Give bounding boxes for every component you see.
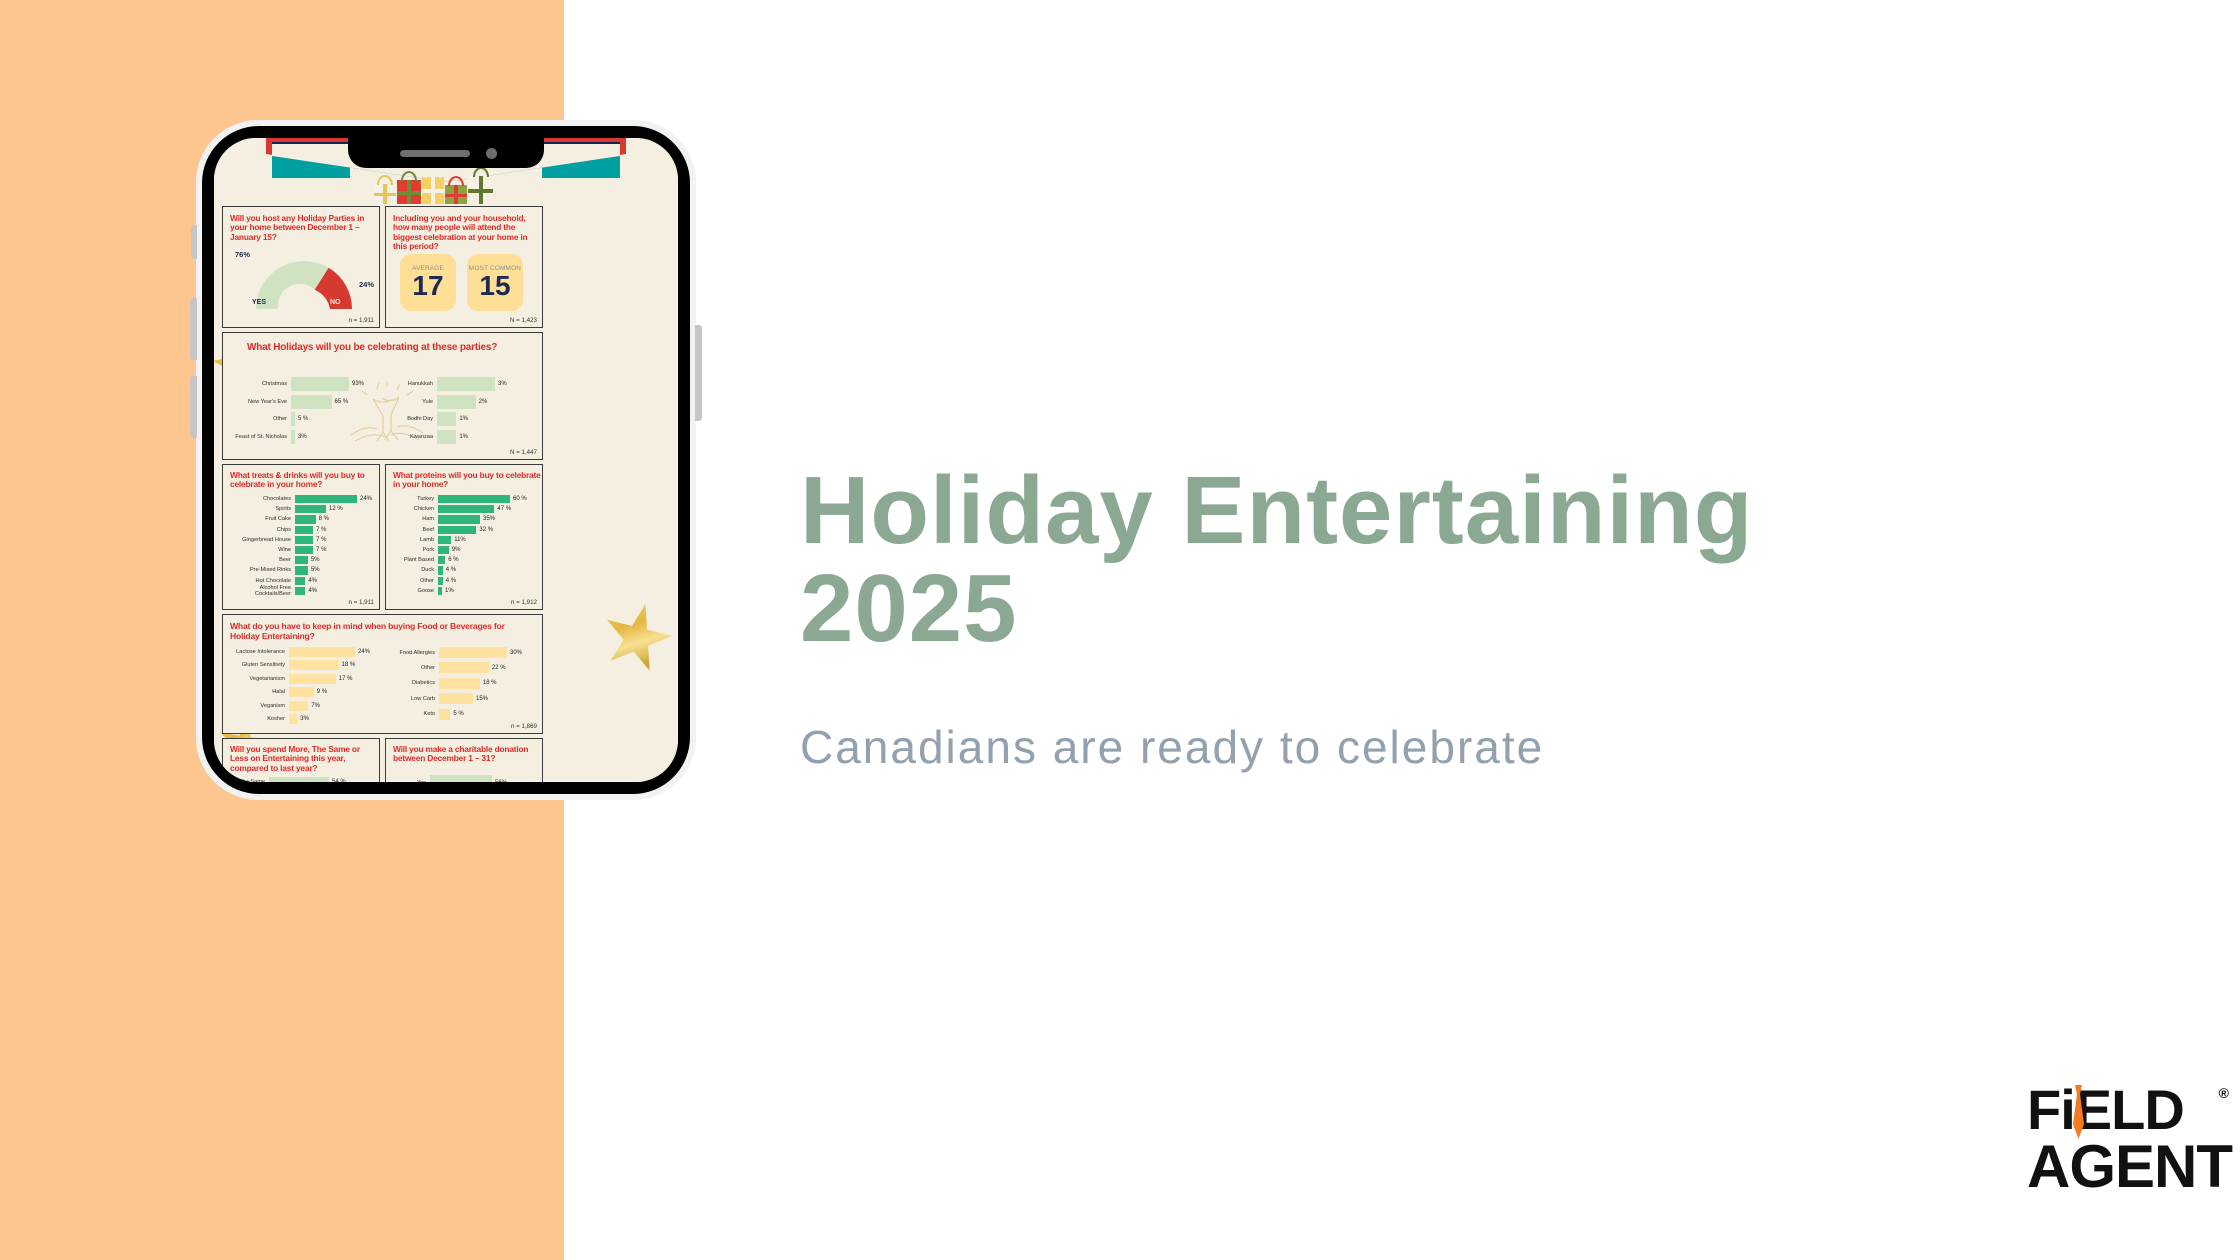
bar-chart-row: Yes56% bbox=[390, 775, 540, 782]
treats-bars: Chocolates24%Spirits12 %Fruit Cake8 %Chi… bbox=[227, 495, 377, 597]
bar-fill bbox=[437, 395, 476, 409]
bar-chart-row: Pork9% bbox=[390, 546, 540, 554]
gift-box-icon bbox=[445, 185, 467, 204]
bar-label: Chocolates bbox=[227, 496, 295, 502]
bar-label: Veganism bbox=[227, 703, 289, 709]
bar-chart-row: Keto5 % bbox=[383, 709, 537, 720]
bar-fill bbox=[438, 526, 476, 534]
bar-value: 11% bbox=[451, 537, 466, 543]
bar-fill bbox=[437, 412, 456, 426]
bar-label: Spirits bbox=[227, 506, 295, 512]
bar-chart-row: Pre-Mixed Rinks5% bbox=[227, 566, 377, 574]
bar-fill bbox=[295, 587, 305, 595]
bar-label: Duck bbox=[390, 567, 438, 573]
bar-fill bbox=[437, 377, 495, 391]
bar-fill bbox=[289, 647, 355, 657]
bar-label: Lactose Intolerance bbox=[227, 649, 289, 655]
bar-chart-row: Plant Based6 % bbox=[390, 556, 540, 564]
bar-label: Ham bbox=[390, 516, 438, 522]
bar-chart-row: Gingerbread House7 % bbox=[227, 536, 377, 544]
attendance-sample-size: N = 1,423 bbox=[510, 317, 537, 324]
bar-label: Halal bbox=[227, 689, 289, 695]
bar-label: Turkey bbox=[390, 496, 438, 502]
gift-box-icon bbox=[422, 177, 444, 204]
most-common-card-value: 15 bbox=[479, 273, 510, 300]
bar-chart-row: Lactose Intolerance24% bbox=[227, 647, 379, 657]
host-parties-sample-size: n = 1,911 bbox=[348, 317, 374, 324]
gift-box-icon bbox=[468, 176, 493, 204]
donation-bars: Yes56%No44% bbox=[390, 775, 540, 782]
bar-value: 47 % bbox=[494, 506, 511, 512]
gift-ribbon-horizontal bbox=[374, 193, 396, 196]
phone-power-button[interactable] bbox=[695, 325, 702, 421]
bar-value: 1% bbox=[456, 416, 468, 422]
panel-treats: What treats & drinks will you buy to cel… bbox=[222, 464, 380, 610]
bar-fill bbox=[295, 577, 305, 585]
bar-label: Hot Chocolate bbox=[227, 578, 295, 584]
bar-chart-row: Other5 % bbox=[229, 412, 381, 426]
attendance-most-common-card: MOST COMMON 15 bbox=[467, 254, 523, 311]
bar-chart-row: New Year's Eve65 % bbox=[229, 395, 381, 409]
bar-fill bbox=[291, 377, 349, 391]
proteins-sample-size: n = 1,912 bbox=[511, 599, 537, 606]
gold-star-decoration bbox=[595, 596, 678, 681]
host-parties-no-label: NO bbox=[330, 299, 341, 306]
bar-value: 30% bbox=[507, 650, 522, 656]
bar-label: Gingerbread House bbox=[227, 537, 295, 543]
holidays-question: What Holidays will you be celebrating at… bbox=[247, 342, 537, 353]
phone-mockup: Will you host any Holiday Parties in you… bbox=[196, 120, 696, 800]
attendance-stat-cards: AVERAGE 17 MOST COMMON 15 bbox=[400, 254, 523, 311]
bar-fill bbox=[295, 546, 313, 554]
bar-value: 15% bbox=[473, 696, 488, 702]
gift-boxes-decoration bbox=[374, 174, 524, 204]
considerations-bars-right: Food Allergies30%Other22 %Diabetics18 %L… bbox=[383, 647, 537, 724]
phone-volume-down-button[interactable] bbox=[190, 376, 197, 438]
bar-chart-row: Other22 % bbox=[383, 662, 537, 673]
bar-value: 35% bbox=[480, 516, 495, 522]
bar-value: 4 % bbox=[443, 578, 456, 584]
gift-box-icon bbox=[397, 180, 421, 204]
bar-fill bbox=[438, 515, 480, 523]
bar-value: 1% bbox=[456, 434, 468, 440]
bar-label: Gluten Sensitivity bbox=[227, 662, 289, 668]
phone-mute-switch[interactable] bbox=[191, 225, 197, 259]
bar-chart-row: Beer5% bbox=[227, 556, 377, 564]
bar-value: 60 % bbox=[510, 496, 527, 502]
holidays-bars-right: Hanukkah3%Yule2%Bodhi Day1%Kwanzaa1% bbox=[385, 377, 537, 447]
bar-label: Pre-Mixed Rinks bbox=[227, 567, 295, 573]
bar-label: Yes bbox=[390, 780, 430, 782]
bar-chart-row: Bodhi Day1% bbox=[385, 412, 537, 426]
bar-value: 24% bbox=[355, 649, 370, 655]
average-card-value: 17 bbox=[412, 273, 443, 300]
bar-fill bbox=[289, 674, 336, 684]
bar-label: Other bbox=[383, 665, 439, 671]
bar-value: 54 % bbox=[329, 779, 346, 782]
bar-value: 18 % bbox=[480, 680, 497, 686]
bar-chart-row: Chicken47 % bbox=[390, 505, 540, 513]
treats-question: What treats & drinks will you buy to cel… bbox=[230, 471, 376, 490]
bar-chart-row: Yule2% bbox=[385, 395, 537, 409]
bar-value: 22 % bbox=[489, 665, 506, 671]
bar-label: Other bbox=[390, 578, 438, 584]
bar-chart-row: Diabetics18 % bbox=[383, 678, 537, 689]
bar-label: Goose bbox=[390, 588, 438, 594]
bar-value: 7% bbox=[308, 703, 320, 709]
bar-label: Christmas bbox=[229, 381, 291, 387]
bar-value: 4% bbox=[305, 588, 317, 594]
host-parties-question: Will you host any Holiday Parties in you… bbox=[230, 214, 374, 242]
phone-volume-up-button[interactable] bbox=[190, 298, 197, 360]
bar-chart-row: The Same54 % bbox=[227, 777, 377, 782]
panel-host-parties: Will you host any Holiday Parties in you… bbox=[222, 206, 380, 328]
bar-fill bbox=[295, 566, 308, 574]
panel-considerations: What do you have to keep in mind when bu… bbox=[222, 614, 543, 734]
bar-chart-row: Veganism7% bbox=[227, 701, 379, 711]
bar-chart-row: Beef32 % bbox=[390, 526, 540, 534]
spend-question: Will you spend More, The Same or Less on… bbox=[230, 745, 376, 773]
bar-label: Plant Based bbox=[390, 557, 438, 563]
bar-value: 9% bbox=[449, 547, 461, 553]
bar-label: Wine bbox=[227, 547, 295, 553]
front-camera bbox=[486, 148, 497, 159]
bar-label: Beer bbox=[227, 557, 295, 563]
bar-value: 7 % bbox=[313, 537, 326, 543]
gift-box-icon bbox=[374, 184, 396, 204]
bar-value: 3% bbox=[297, 716, 309, 722]
bar-label: Vegetarianism bbox=[227, 676, 289, 682]
bar-fill bbox=[289, 687, 314, 697]
bar-label: Alcohol Free Cocktails/Beer bbox=[227, 585, 295, 597]
bar-chart-row: Kosher3% bbox=[227, 714, 379, 724]
bar-value: 7 % bbox=[313, 547, 326, 553]
bar-label: Yule bbox=[385, 399, 437, 405]
bar-value: 65 % bbox=[332, 399, 349, 405]
bar-value: 32 % bbox=[476, 527, 493, 533]
bar-chart-row: Turkey60 % bbox=[390, 495, 540, 503]
page-title-line-2: 2025 bbox=[800, 560, 2200, 658]
gift-ribbon-horizontal bbox=[468, 189, 493, 193]
bar-value: 5 % bbox=[450, 711, 463, 717]
bar-fill bbox=[438, 495, 510, 503]
bar-value: 24% bbox=[357, 496, 372, 502]
bar-label: Keto bbox=[383, 711, 439, 717]
donation-question: Will you make a charitable donation betw… bbox=[393, 745, 541, 764]
attendance-question: Including you and your household, how ma… bbox=[393, 214, 539, 252]
bar-label: New Year's Eve bbox=[229, 399, 291, 405]
bar-fill bbox=[295, 556, 308, 564]
bar-value: 4% bbox=[305, 578, 317, 584]
bar-fill bbox=[438, 546, 449, 554]
bar-chart-row: Vegetarianism17 % bbox=[227, 674, 379, 684]
bar-fill bbox=[439, 647, 507, 658]
bar-chart-row: Food Allergies30% bbox=[383, 647, 537, 658]
bar-chart-row: Wine7 % bbox=[227, 546, 377, 554]
gift-ribbon-horizontal bbox=[422, 189, 444, 193]
bar-fill bbox=[439, 709, 450, 720]
bar-label: Food Allergies bbox=[383, 650, 439, 656]
bar-chart-row: Halal9 % bbox=[227, 687, 379, 697]
host-parties-no-percent: 24% bbox=[359, 280, 374, 289]
bar-fill bbox=[295, 515, 316, 523]
bar-label: Kosher bbox=[227, 716, 289, 722]
bar-fill bbox=[430, 775, 492, 782]
bar-value: 93% bbox=[349, 381, 364, 387]
considerations-sample-size: n = 1,869 bbox=[511, 723, 537, 730]
bar-label: Chips bbox=[227, 527, 295, 533]
bar-fill bbox=[438, 536, 451, 544]
bar-chart-row: Hanukkah3% bbox=[385, 377, 537, 391]
logo-field-label: FiELD bbox=[2027, 1078, 2184, 1141]
bar-fill bbox=[291, 395, 332, 409]
bar-value: 5% bbox=[308, 567, 320, 573]
registered-trademark-icon: ® bbox=[2219, 1087, 2228, 1101]
holidays-sample-size: N = 1,447 bbox=[510, 449, 537, 456]
bar-value: 3% bbox=[295, 434, 307, 440]
host-parties-yes-label: YES bbox=[252, 299, 266, 306]
proteins-bars: Turkey60 %Chicken47 %Ham35%Beef32 %Lamb1… bbox=[390, 495, 540, 597]
gift-ribbon-horizontal bbox=[445, 194, 467, 197]
treats-sample-size: n = 1,911 bbox=[348, 599, 374, 606]
bar-label: Bodhi Day bbox=[385, 416, 437, 422]
bar-value: 5% bbox=[308, 557, 320, 563]
panel-attendance: Including you and your household, how ma… bbox=[385, 206, 543, 328]
bar-fill bbox=[438, 556, 445, 564]
bar-value: 56% bbox=[492, 780, 507, 782]
bar-label: Hanukkah bbox=[385, 381, 437, 387]
gift-bow bbox=[448, 176, 464, 186]
bar-chart-row: Ham35% bbox=[390, 515, 540, 523]
page-title-line-1: Holiday Entertaining bbox=[800, 462, 2200, 560]
gift-ribbon-horizontal bbox=[397, 191, 421, 195]
bar-label: Low Carb bbox=[383, 696, 439, 702]
bar-value: 7 % bbox=[313, 527, 326, 533]
bar-fill bbox=[295, 526, 313, 534]
considerations-bars-left: Lactose Intolerance24%Gluten Sensitivity… bbox=[227, 647, 379, 727]
panel-spend: Will you spend More, The Same or Less on… bbox=[222, 738, 380, 782]
bar-chart-row: Spirits12 % bbox=[227, 505, 377, 513]
bar-chart-row: Kwanzaa1% bbox=[385, 430, 537, 444]
bar-fill bbox=[295, 495, 357, 503]
page-subtitle: Canadians are ready to celebrate bbox=[800, 720, 2100, 774]
panel-proteins: What proteins will you buy to celebrate … bbox=[385, 464, 543, 610]
infographic-content: Will you host any Holiday Parties in you… bbox=[214, 138, 678, 782]
bar-value: 17 % bbox=[336, 676, 353, 682]
holidays-bars-left: Christmas93%New Year's Eve65 %Other5 %Fe… bbox=[229, 377, 381, 447]
bar-chart-row: Low Carb15% bbox=[383, 693, 537, 704]
bar-fill bbox=[439, 662, 489, 673]
bar-chart-row: Alcohol Free Cocktails/Beer4% bbox=[227, 587, 377, 595]
bar-label: Beef bbox=[390, 527, 438, 533]
bar-fill bbox=[289, 701, 308, 711]
bar-value: 8 % bbox=[316, 516, 329, 522]
bar-fill bbox=[289, 660, 339, 670]
bar-chart-row: Christmas93% bbox=[229, 377, 381, 391]
proteins-question: What proteins will you buy to celebrate … bbox=[393, 471, 541, 490]
bar-label: Fruit Cake bbox=[227, 516, 295, 522]
necktie-icon bbox=[2071, 1085, 2086, 1139]
phone-notch bbox=[348, 138, 544, 168]
bar-chart-row: Fruit Cake8 % bbox=[227, 515, 377, 523]
bar-label: Pork bbox=[390, 547, 438, 553]
bar-chart-row: Goose1% bbox=[390, 587, 540, 595]
bar-fill bbox=[437, 430, 456, 444]
bar-value: 2% bbox=[476, 399, 488, 405]
panel-donation: Will you make a charitable donation betw… bbox=[385, 738, 543, 782]
bar-value: 18 % bbox=[339, 662, 356, 668]
bar-label: Other bbox=[229, 416, 291, 422]
bar-chart-row: Gluten Sensitivity18 % bbox=[227, 660, 379, 670]
bar-fill bbox=[439, 678, 480, 689]
bar-value: 4 % bbox=[443, 567, 456, 573]
bar-label: The Same bbox=[227, 779, 269, 782]
bar-fill bbox=[439, 693, 473, 704]
bar-chart-row: Duck4 % bbox=[390, 566, 540, 574]
bar-value: 6 % bbox=[445, 557, 458, 563]
bar-chart-row: Feast of St. Nicholas3% bbox=[229, 430, 381, 444]
bar-value: 9 % bbox=[314, 689, 327, 695]
logo-field-text: FiELD ® bbox=[2027, 1083, 2212, 1138]
considerations-question: What do you have to keep in mind when bu… bbox=[230, 622, 536, 641]
bar-chart-row: Lamb11% bbox=[390, 536, 540, 544]
bar-label: Chicken bbox=[390, 506, 438, 512]
bar-fill bbox=[295, 536, 313, 544]
earpiece-speaker bbox=[400, 150, 470, 157]
bar-value: 1% bbox=[442, 588, 454, 594]
bar-value: 3% bbox=[495, 381, 507, 387]
bar-chart-row: Chocolates24% bbox=[227, 495, 377, 503]
bar-value: 12 % bbox=[326, 506, 343, 512]
bar-label: Kwanzaa bbox=[385, 434, 437, 440]
attendance-average-card: AVERAGE 17 bbox=[400, 254, 456, 311]
phone-screen[interactable]: Will you host any Holiday Parties in you… bbox=[214, 138, 678, 782]
bar-fill bbox=[438, 505, 494, 513]
logo-agent-text: AGENT bbox=[2027, 1138, 2212, 1197]
bar-fill bbox=[295, 505, 326, 513]
bar-label: Diabetics bbox=[383, 680, 439, 686]
bar-label: Feast of St. Nicholas bbox=[229, 434, 291, 440]
field-agent-logo: FiELD ® AGENT bbox=[2027, 1083, 2212, 1211]
bar-fill bbox=[289, 714, 297, 724]
panel-holidays: What Holidays will you be celebrating at… bbox=[222, 332, 543, 460]
bar-chart-row: Chips7 % bbox=[227, 526, 377, 534]
bar-value: 5 % bbox=[295, 416, 308, 422]
host-parties-yes-percent: 76% bbox=[235, 250, 250, 259]
bar-fill bbox=[269, 777, 329, 782]
bar-chart-row: Other4 % bbox=[390, 577, 540, 585]
gift-bow bbox=[377, 175, 393, 185]
bar-label: Lamb bbox=[390, 537, 438, 543]
page-title: Holiday Entertaining 2025 bbox=[800, 462, 2200, 658]
spend-bars: The Same54 %More33%Less13% bbox=[227, 777, 377, 782]
bar-chart-row: Hot Chocolate4% bbox=[227, 577, 377, 585]
